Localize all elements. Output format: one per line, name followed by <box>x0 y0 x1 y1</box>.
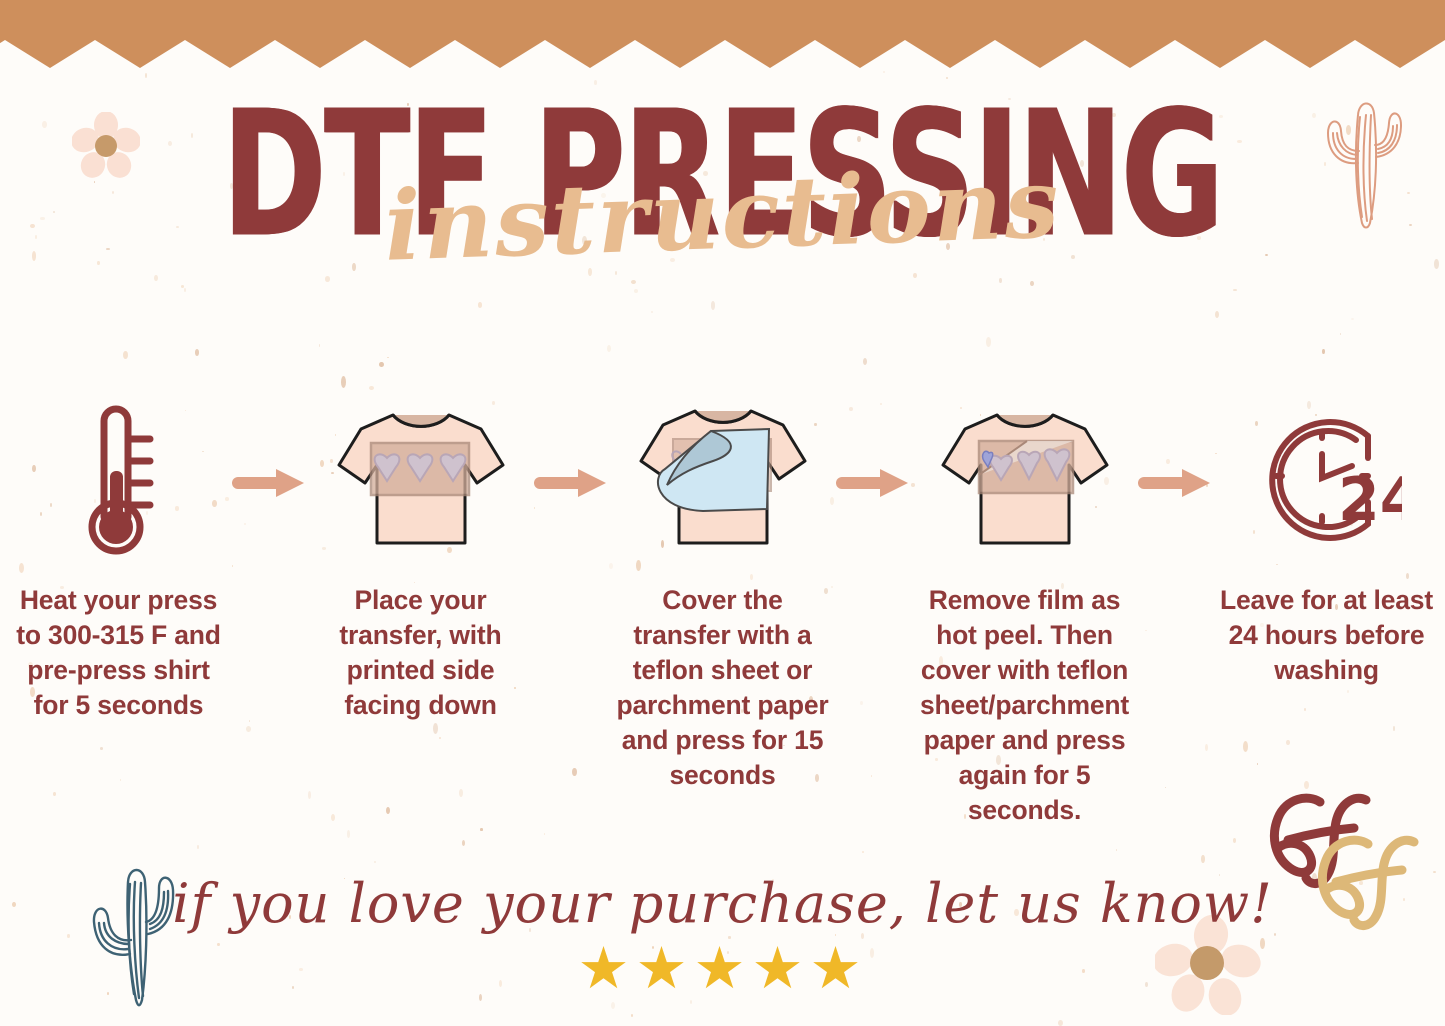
step-1: Heat your press to 300-315 F and pre-pre… <box>8 396 230 723</box>
tagline-text: if you love your purchase, let us know! <box>0 872 1445 935</box>
thermometer-icon <box>8 396 230 561</box>
step-1-text: Heat your press to 300-315 F and pre-pre… <box>11 583 227 723</box>
arrow-2-icon <box>532 396 612 500</box>
step-2: Place your transfer, with printed side f… <box>310 396 532 723</box>
tshirt-covered-with-teflon-sheet-icon <box>612 396 834 561</box>
svg-text:24: 24 <box>1338 465 1402 535</box>
step-4-text: Remove film as hot peel. Then cover with… <box>917 583 1133 828</box>
clock-24-hours-icon: 24 <box>1216 396 1438 561</box>
five-star-rating: ★★★★★ <box>0 940 1445 998</box>
arrow-1-icon <box>230 396 310 500</box>
instruction-steps-row: Heat your press to 300-315 F and pre-pre… <box>0 396 1445 828</box>
top-zigzag-band <box>0 0 1445 68</box>
arrow-4-icon <box>1136 396 1216 500</box>
step-5-text: Leave for at least 24 hours before washi… <box>1219 583 1435 688</box>
step-4: Remove film as hot peel. Then cover with… <box>914 396 1136 828</box>
arrow-3-icon <box>834 396 914 500</box>
tshirt-with-transfer-icon <box>310 396 532 561</box>
step-3-text: Cover the transfer with a teflon sheet o… <box>615 583 831 793</box>
step-3: Cover the transfer with a teflon sheet o… <box>612 396 834 793</box>
step-5: 24 Leave for at least 24 hours before wa… <box>1216 396 1438 688</box>
tshirt-peeling-film-icon <box>914 396 1136 561</box>
step-2-text: Place your transfer, with printed side f… <box>313 583 529 723</box>
